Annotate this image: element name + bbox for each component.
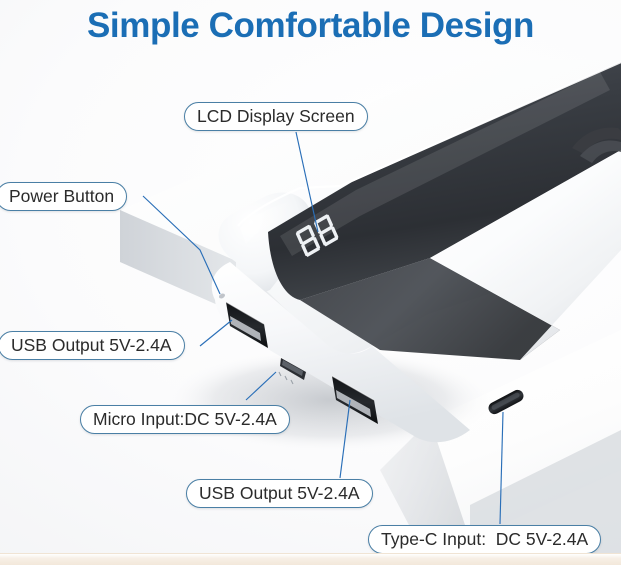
callout-micro-input[interactable]: Micro Input:DC 5V-2.4A xyxy=(80,405,290,434)
callout-power-button[interactable]: Power Button xyxy=(0,182,127,211)
infographic-canvas: Simple Comfortable Design LCD Display Sc… xyxy=(0,0,621,565)
page-title: Simple Comfortable Design xyxy=(0,4,621,48)
footer-strip xyxy=(0,553,621,565)
callout-type-c-input[interactable]: Type-C Input: DC 5V-2.4A xyxy=(368,525,601,554)
callout-lcd-display[interactable]: LCD Display Screen xyxy=(184,102,368,131)
callout-usb-output-2[interactable]: USB Output 5V-2.4A xyxy=(186,479,373,508)
callout-usb-output-1[interactable]: USB Output 5V-2.4A xyxy=(0,331,185,360)
leader-usb1 xyxy=(200,320,232,346)
